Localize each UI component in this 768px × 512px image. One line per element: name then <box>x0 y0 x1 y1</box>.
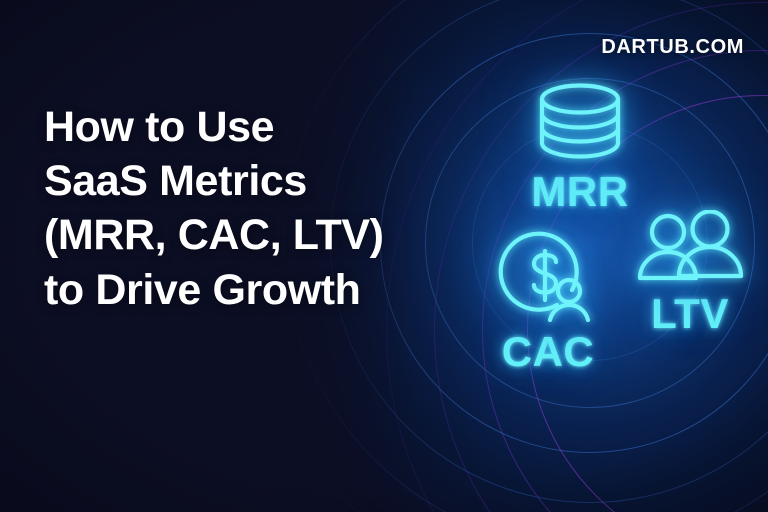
graphic-canvas: DARTUB.COM How to Use SaaS Metrics (MRR,… <box>0 0 768 512</box>
metric-mrr-label: MRR <box>531 171 628 213</box>
headline-line-1: How to Use <box>44 100 444 154</box>
metric-ltv-label: LTV <box>651 293 729 335</box>
headline-line-2: SaaS Metrics <box>44 154 444 208</box>
headline-line-4: to Drive Growth <box>44 263 444 317</box>
two-users-icon <box>635 210 745 291</box>
headline-block: How to Use SaaS Metrics (MRR, CAC, LTV) … <box>44 100 444 317</box>
metric-cac-label: CAC <box>502 331 595 373</box>
site-watermark: DARTUB.COM <box>601 36 744 59</box>
headline-line-3: (MRR, CAC, LTV) <box>44 208 444 262</box>
metric-mrr: MRR <box>496 82 664 213</box>
metric-cac: CAC <box>468 228 628 373</box>
database-cylinder-icon <box>532 82 628 165</box>
dollar-circle-person-icon <box>495 228 601 329</box>
metric-ltv: LTV <box>618 210 762 335</box>
